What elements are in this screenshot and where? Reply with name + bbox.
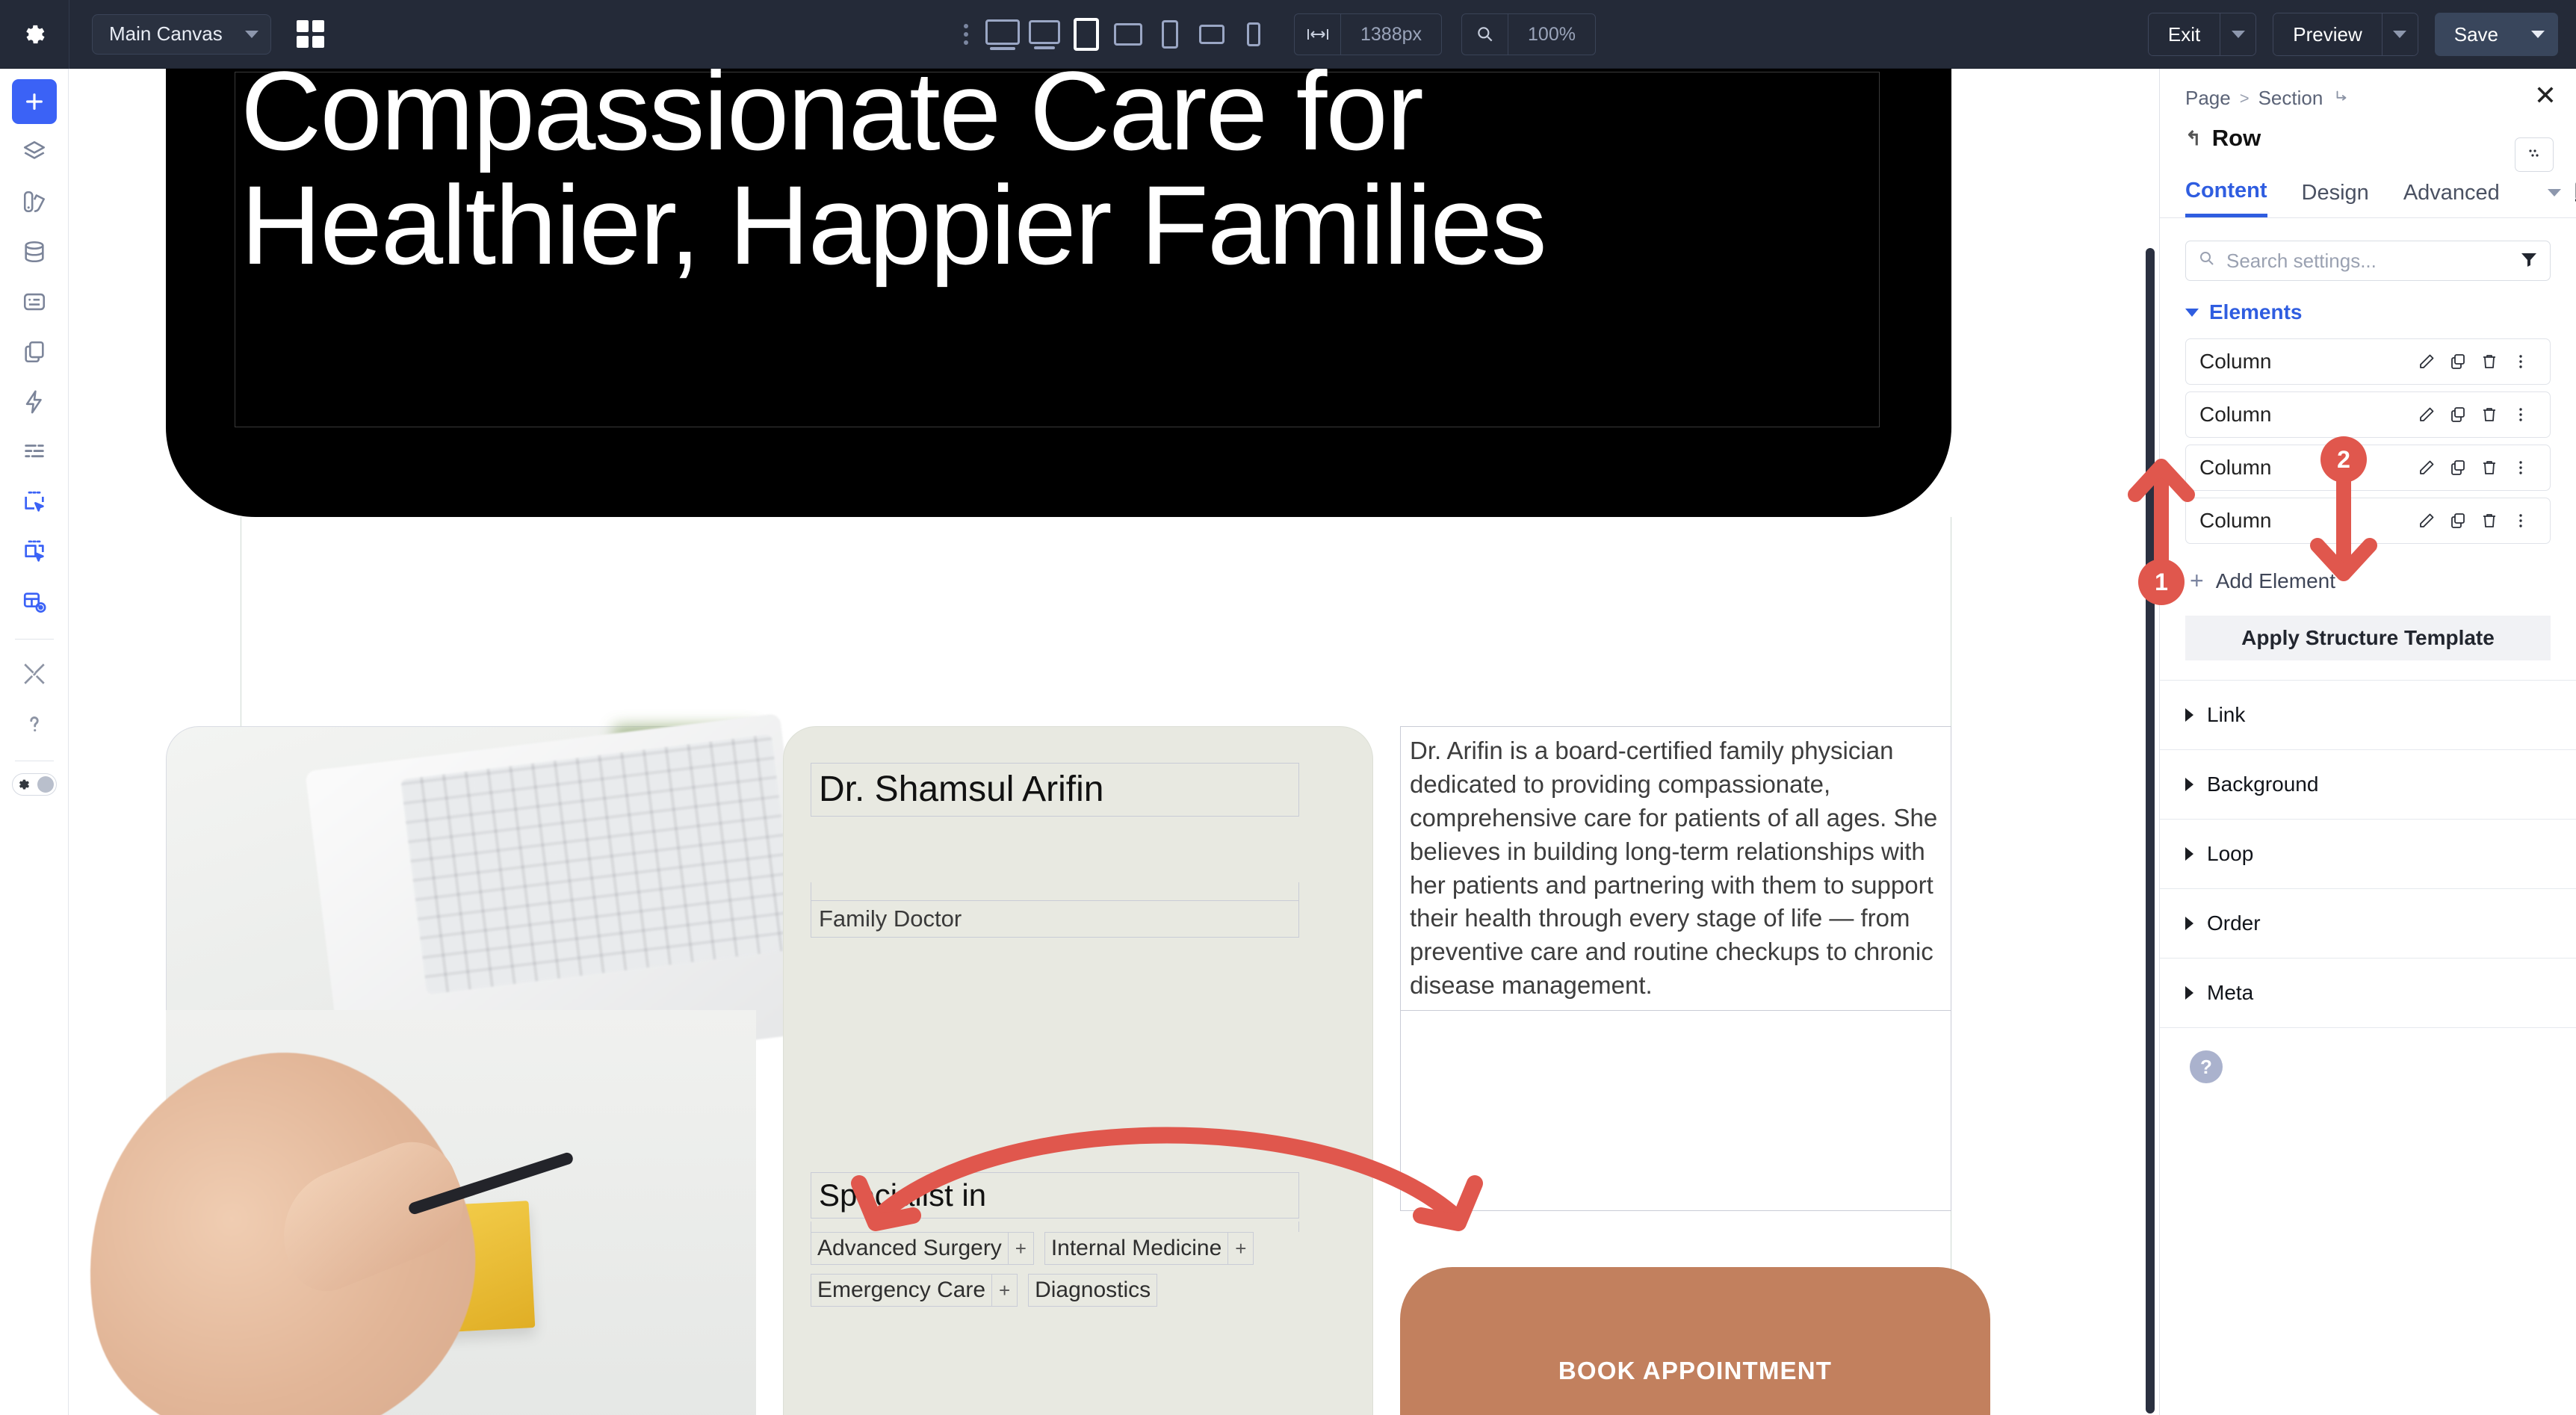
empty-block[interactable] [1400, 1011, 1951, 1211]
sidebar-item-select-container[interactable] [12, 530, 57, 575]
exit-button[interactable]: Exit [2148, 13, 2256, 56]
help-question-icon[interactable]: ? [2190, 1050, 2223, 1083]
element-row-column-2[interactable]: Column [2185, 391, 2551, 438]
elements-section-label: Elements [2209, 300, 2303, 324]
triangle-right-icon [2185, 708, 2193, 722]
sidebar-item-palette[interactable] [12, 179, 57, 224]
breadcrumb: Page > Section [2160, 69, 2576, 110]
delete-trash-icon[interactable] [2474, 346, 2505, 377]
device-desktop[interactable] [982, 14, 1024, 55]
breadcrumb-section[interactable]: Section [2258, 87, 2323, 110]
plus-small-icon[interactable]: + [1009, 1232, 1034, 1265]
device-toolbar: 1388px 100% [964, 0, 1596, 69]
settings-panel: Page > Section ✕ ↰ Row Content Design Ad… [2159, 69, 2576, 1415]
delete-trash-icon[interactable] [2474, 452, 2505, 483]
width-arrows-icon [1295, 13, 1341, 55]
column-description[interactable]: Dr. Arifin is a board-certified family p… [1400, 726, 1951, 1415]
elements-section-header[interactable]: Elements [2160, 281, 2576, 332]
arrow-turn-down-right-icon [2333, 87, 2350, 110]
zoom-value: 100% [1508, 24, 1595, 46]
breadcrumb-separator: > [2240, 89, 2250, 108]
sidebar-item-tools[interactable] [12, 651, 57, 696]
breadcrumb-page[interactable]: Page [2185, 87, 2231, 110]
edit-pencil-icon[interactable] [2411, 399, 2442, 430]
specialty-tag[interactable]: Internal Medicine [1044, 1232, 1228, 1265]
canvas-scrollbar[interactable] [2146, 248, 2155, 1414]
sidebar-item-form[interactable] [12, 279, 57, 324]
chevron-down-icon [245, 31, 258, 38]
specialty-tag[interactable]: Emergency Care [811, 1274, 992, 1307]
sidebar-item-add[interactable] [12, 79, 57, 124]
canvas-selector[interactable]: Main Canvas [92, 14, 271, 55]
settings-toggle[interactable] [12, 773, 57, 796]
hero-headline[interactable]: Compassionate Care for Healthier, Happie… [241, 69, 1869, 282]
plus-icon: + [2190, 567, 2204, 595]
canvas-area[interactable]: Compassionate Care for Healthier, Happie… [69, 69, 2159, 1415]
more-vertical-icon[interactable] [2505, 346, 2536, 377]
apply-structure-template-button[interactable]: Apply Structure Template [2185, 616, 2551, 660]
search-placeholder: Search settings... [2226, 250, 2520, 273]
book-appointment-button[interactable]: BOOK APPOINTMENT [1400, 1267, 1990, 1415]
sidebar-item-select-element[interactable] [12, 480, 57, 524]
tab-design[interactable]: Design [2302, 170, 2369, 216]
toolbar-divider [69, 0, 69, 69]
toolbar-actions: Exit Preview Save [2148, 0, 2558, 69]
sidebar-item-layers[interactable] [12, 129, 57, 174]
sidebar-item-save-template[interactable] [12, 580, 57, 625]
sidebar-divider-2 [15, 761, 54, 761]
edit-pencil-icon[interactable] [2411, 505, 2442, 536]
duplicate-icon[interactable] [2442, 452, 2474, 483]
device-tablet-small[interactable] [1191, 14, 1233, 55]
sidebar-item-layout[interactable] [12, 430, 57, 474]
search-input[interactable]: Search settings... [2185, 241, 2551, 281]
triangle-right-icon [2185, 847, 2193, 861]
panel-title-row: ↰ Row [2160, 110, 2576, 152]
element-row-column-1[interactable]: Column [2185, 338, 2551, 385]
canvas-width-field[interactable]: 1388px [1294, 13, 1442, 55]
element-row-column-4[interactable]: Column [2185, 498, 2551, 544]
preview-dropdown-icon[interactable] [2382, 13, 2418, 55]
accordion-label: Meta [2207, 981, 2253, 1005]
delete-trash-icon[interactable] [2474, 505, 2505, 536]
save-button[interactable]: Save [2435, 13, 2558, 56]
triangle-down-icon [2185, 309, 2199, 317]
save-label: Save [2435, 13, 2518, 56]
device-laptop[interactable] [1024, 14, 1065, 55]
element-label: Column [2199, 509, 2411, 533]
filter-icon[interactable] [2520, 250, 2538, 273]
device-tablet-landscape[interactable] [1107, 14, 1149, 55]
accordion-background[interactable]: Background [2160, 749, 2576, 819]
doctor-photo[interactable] [166, 726, 756, 1415]
panel-tabs: Content Design Advanced [2160, 168, 2576, 218]
canvas-width-value: 1388px [1341, 24, 1441, 46]
plus-small-icon[interactable]: + [1228, 1232, 1254, 1265]
preview-button[interactable]: Preview [2273, 13, 2418, 56]
photo-illustration [166, 726, 756, 1415]
edit-pencil-icon[interactable] [2411, 346, 2442, 377]
grid-view-icon[interactable] [292, 16, 328, 52]
tab-content[interactable]: Content [2185, 168, 2267, 217]
chevron-down-icon[interactable] [2548, 189, 2561, 196]
page-content: Compassionate Care for Healthier, Happie… [166, 69, 1951, 517]
save-dropdown-icon[interactable] [2518, 13, 2558, 56]
triangle-right-icon [2185, 917, 2193, 930]
column-image[interactable] [166, 726, 756, 1415]
device-mobile-small[interactable] [1233, 14, 1275, 55]
back-arrow-icon[interactable]: ↰ [2185, 127, 2202, 150]
duplicate-icon[interactable] [2442, 505, 2474, 536]
card-spacer [811, 882, 1299, 900]
delete-trash-icon[interactable] [2474, 399, 2505, 430]
accordion-label: Order [2207, 911, 2261, 935]
column-doctor-card[interactable]: Dr. Shamsul Arifin Family Doctor Special… [783, 726, 1373, 1415]
specialty-tags-row-1: Advanced Surgery + Internal Medicine + [811, 1232, 1299, 1265]
specialty-tag[interactable]: Advanced Surgery [811, 1232, 1009, 1265]
accordion-meta[interactable]: Meta [2160, 958, 2576, 1027]
element-label: Column [2199, 350, 2411, 374]
element-label: Column [2199, 403, 2411, 427]
accordion-loop[interactable]: Loop [2160, 819, 2576, 888]
hero-section[interactable]: Compassionate Care for Healthier, Happie… [166, 69, 1951, 517]
more-vertical-icon[interactable] [964, 24, 968, 45]
device-tablet-portrait[interactable] [1065, 14, 1107, 55]
search-icon [1462, 13, 1508, 55]
tab-advanced[interactable]: Advanced [2403, 170, 2500, 216]
more-vertical-icon[interactable] [2505, 399, 2536, 430]
gear-icon[interactable] [0, 0, 69, 69]
doctor-row: Dr. Shamsul Arifin Family Doctor Special… [166, 726, 1951, 1415]
doctor-role[interactable]: Family Doctor [811, 900, 1299, 938]
preview-label: Preview [2273, 13, 2381, 55]
sidebar-item-pages[interactable] [12, 329, 57, 374]
zoom-field[interactable]: 100% [1461, 13, 1596, 55]
more-vertical-icon[interactable] [2505, 452, 2536, 483]
page-title: Row [2212, 125, 2261, 152]
toggle-knob [37, 776, 54, 793]
specialty-tags-row-2: Emergency Care + Diagnostics [811, 1274, 1299, 1307]
exit-label: Exit [2149, 13, 2220, 55]
doctor-name[interactable]: Dr. Shamsul Arifin [811, 763, 1299, 817]
duplicate-icon[interactable] [2442, 399, 2474, 430]
add-element-label: Add Element [2216, 569, 2335, 593]
canvas-selector-label: Main Canvas [109, 22, 223, 46]
doctor-description[interactable]: Dr. Arifin is a board-certified family p… [1400, 726, 1951, 1011]
device-mobile-large[interactable] [1149, 14, 1191, 55]
element-label: Column [2199, 456, 2411, 480]
specialist-spacer [811, 1222, 1299, 1232]
duplicate-icon[interactable] [2442, 346, 2474, 377]
left-sidebar [0, 69, 69, 1415]
grid-glyph [297, 20, 324, 48]
specialty-tag[interactable]: Diagnostics [1028, 1274, 1157, 1307]
plus-small-icon[interactable]: + [992, 1274, 1018, 1307]
sidebar-item-database[interactable] [12, 229, 57, 274]
accordion-link[interactable]: Link [2160, 680, 2576, 749]
triangle-right-icon [2185, 778, 2193, 791]
accordion-order[interactable]: Order [2160, 888, 2576, 958]
doctor-card[interactable]: Dr. Shamsul Arifin Family Doctor Special… [783, 726, 1373, 1415]
search-icon [2198, 250, 2216, 273]
sidebar-item-interactions[interactable] [12, 380, 57, 424]
sidebar-item-help[interactable] [12, 702, 57, 746]
edit-pencil-icon[interactable] [2411, 452, 2442, 483]
element-row-column-3[interactable]: Column [2185, 445, 2551, 491]
sidebar-divider-1 [15, 639, 54, 640]
specialist-heading[interactable]: Specialist in [811, 1172, 1299, 1219]
accordion-label: Loop [2207, 842, 2253, 866]
triangle-right-icon [2185, 986, 2193, 1000]
gear-icon [15, 776, 31, 793]
top-toolbar: Main Canvas 1388 [0, 0, 2576, 69]
accordion-label: Link [2207, 703, 2245, 727]
close-icon[interactable]: ✕ [2534, 82, 2557, 109]
structure-template-icon[interactable] [2515, 137, 2554, 172]
accordion-label: Background [2207, 772, 2318, 796]
exit-dropdown-icon[interactable] [2220, 13, 2255, 55]
add-element-button[interactable]: + Add Element [2160, 551, 2576, 595]
more-vertical-icon[interactable] [2505, 505, 2536, 536]
